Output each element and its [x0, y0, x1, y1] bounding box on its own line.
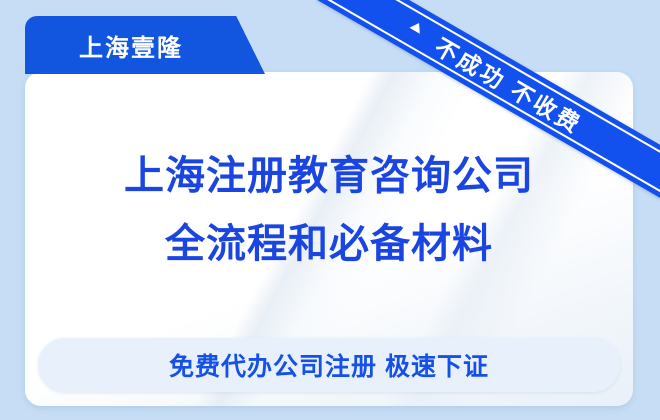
brand-tab-inner: 上海壹隆 — [25, 16, 237, 74]
bottom-cta-pill[interactable]: 免费代办公司注册 极速下证 — [38, 338, 620, 392]
headline-line-1: 上海注册教育咨询公司 — [25, 156, 633, 196]
brand-tab: 上海壹隆 — [25, 16, 265, 74]
headline-block: 上海注册教育咨询公司 全流程和必备材料 — [25, 156, 633, 264]
bottom-cta-label: 免费代办公司注册 极速下证 — [169, 347, 489, 383]
brand-tab-label: 上海壹隆 — [79, 28, 183, 63]
headline-line-2: 全流程和必备材料 — [25, 224, 633, 264]
triangle-up-icon — [409, 20, 424, 34]
promo-poster: 上海壹隆 上海注册教育咨询公司 全流程和必备材料 免费代办公司注册 极速下证 不… — [0, 0, 660, 420]
